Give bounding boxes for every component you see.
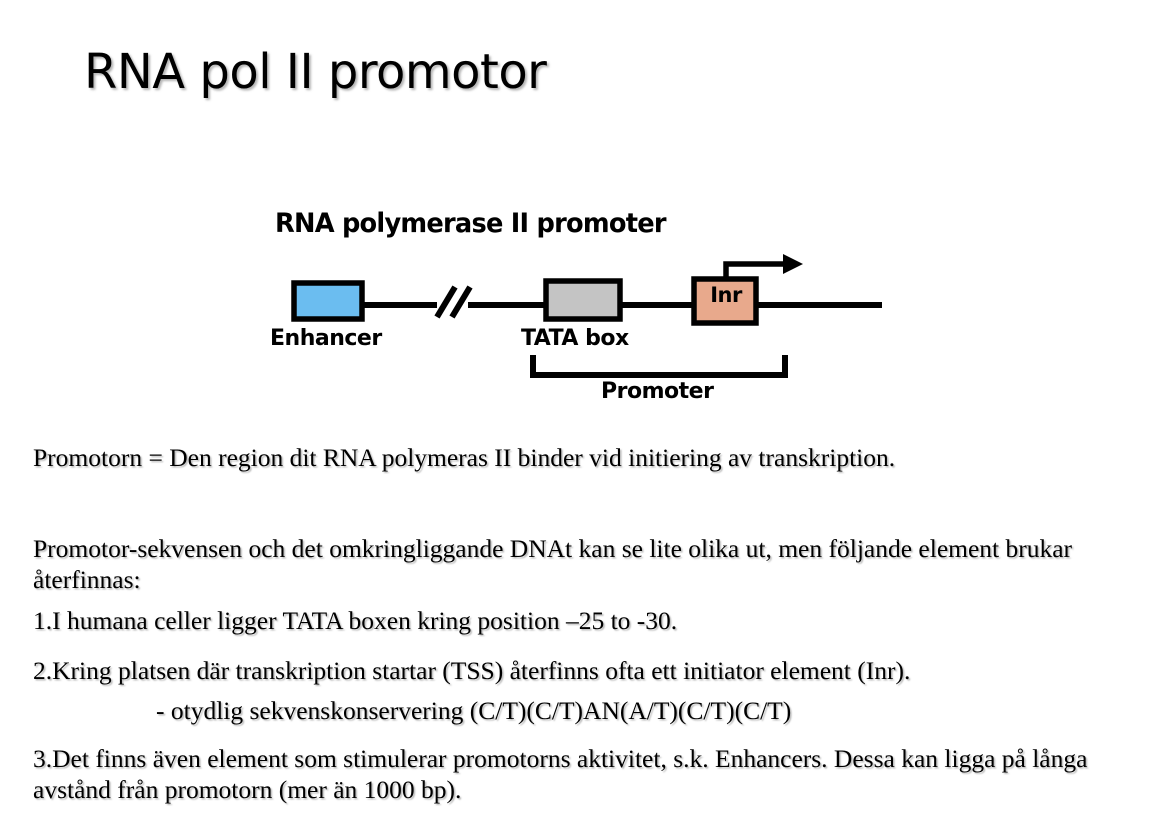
enhancer-label: Enhancer (270, 326, 382, 351)
promoter-bracket (533, 355, 785, 375)
list-item-3: 3.Det finns även element som stimulerar … (33, 743, 1118, 805)
list-item-2: 2.Kring platsen där transkription starta… (33, 655, 1113, 686)
tata-box-label: TATA box (521, 326, 629, 351)
inr-label: Inr (697, 283, 755, 307)
tata-box (546, 281, 620, 319)
enhancer-box (294, 283, 362, 319)
intro-paragraph: Promotor-sekvensen och det omkringliggan… (33, 533, 1093, 595)
list-item-2-sub: - otydlig sekvenskonservering (C/T)(C/T)… (156, 695, 1116, 726)
promoter-label: Promoter (601, 379, 713, 404)
promoter-diagram: RNA polymerase II promoter Enhan (0, 195, 1150, 425)
definition-paragraph: Promotorn = Den region dit RNA polymeras… (33, 442, 1113, 473)
page-title: RNA pol II promotor (84, 44, 546, 100)
tss-arrowhead-icon (783, 254, 803, 274)
list-item-1: 1.I humana celler ligger TATA boxen krin… (33, 605, 1113, 636)
promoter-diagram-svg (0, 195, 1150, 425)
break-slashes-icon (437, 287, 470, 317)
